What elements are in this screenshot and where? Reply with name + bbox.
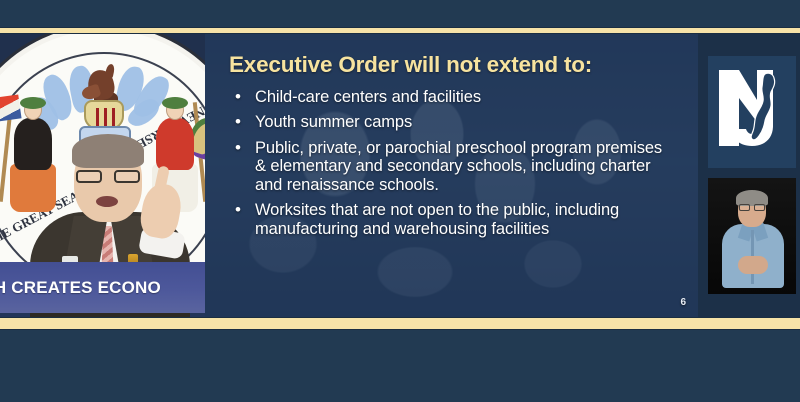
list-item: Worksites that are not open to the publi…	[229, 201, 676, 238]
top-gold-accent-stripe	[0, 27, 800, 34]
presentation-slide[interactable]: Executive Order will not extend to: Chil…	[205, 34, 698, 317]
bottom-navy-band	[0, 330, 800, 402]
list-item: Youth summer camps	[229, 113, 676, 131]
broadcast-screen: THE GREAT SEAL OF NEW JERSEY	[0, 0, 800, 402]
broadcast-content-strip: THE GREAT SEAL OF NEW JERSEY	[0, 34, 800, 317]
lower-third-chyron: LTH CREATES ECONO	[0, 262, 205, 313]
signing-hands	[738, 256, 768, 274]
slide-title: Executive Order will not extend to:	[229, 52, 676, 78]
eyeglasses-icon	[739, 204, 765, 211]
governor-video-panel[interactable]: THE GREAT SEAL OF NEW JERSEY	[0, 34, 205, 317]
right-rail	[698, 34, 800, 317]
slide-bullet-list: Child-care centers and facilities Youth …	[229, 88, 676, 238]
slide-number: 6	[680, 297, 686, 308]
new-jersey-nj-logo-icon	[713, 64, 791, 160]
nj-logo-panel	[708, 56, 796, 168]
top-navy-band	[0, 0, 800, 27]
list-item: Public, private, or parochial preschool …	[229, 139, 676, 194]
asl-interpreter-panel[interactable]	[708, 178, 796, 294]
eyeglasses-icon	[76, 170, 140, 183]
chyron-text: LTH CREATES ECONO	[0, 278, 161, 298]
list-item: Child-care centers and facilities	[229, 88, 676, 106]
bottom-gold-accent-stripe	[0, 317, 800, 330]
